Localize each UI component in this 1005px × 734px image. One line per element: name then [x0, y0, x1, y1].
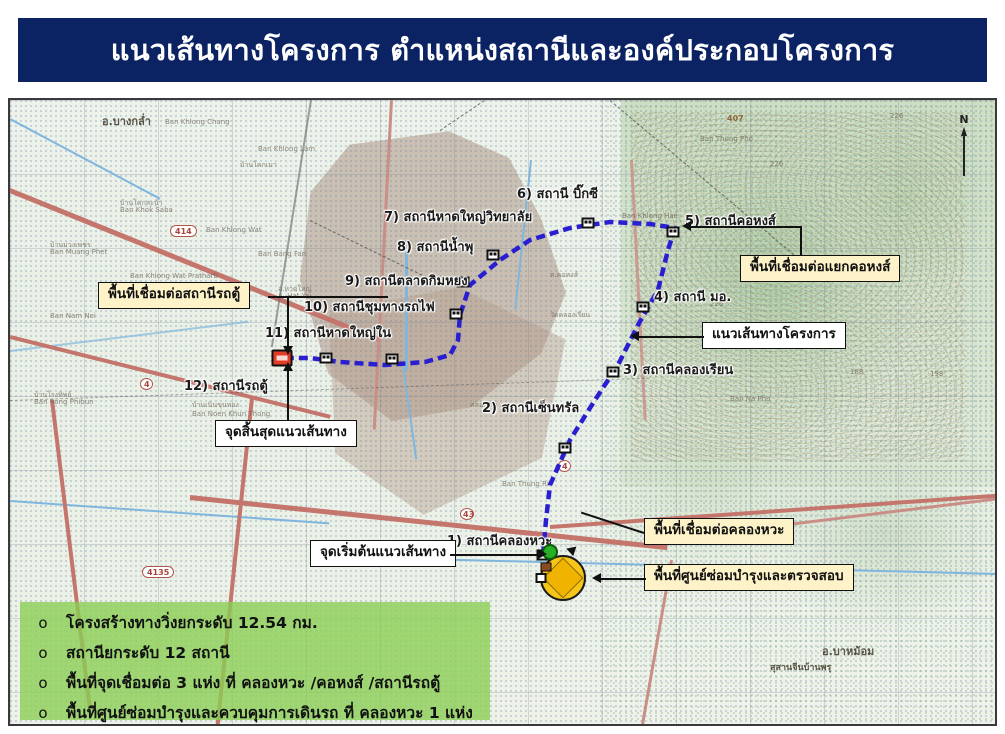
- station-marker-11[interactable]: [320, 353, 333, 364]
- legend-item: o พื้นที่จุดเชื่อมต่อ 3 แห่ง ที่ คลองหวะ…: [20, 672, 490, 698]
- legend-item-label: โครงสร้างทางวิ่งยกระดับ 12.54 กม.: [66, 612, 318, 634]
- station-marker-3[interactable]: [607, 367, 620, 378]
- station-marker-10[interactable]: [386, 354, 399, 365]
- legend-bullet-icon: o: [20, 702, 66, 724]
- callout-arrow: [283, 362, 293, 371]
- place-label: Ban Thung Pho: [700, 135, 753, 143]
- callout-route-end: จุดสิ้นสุดแนวเส้นทาง: [215, 420, 357, 447]
- highway-shield: 4: [558, 460, 571, 472]
- place-label: ต.คอหงส์: [550, 270, 578, 281]
- legend-item-label: พื้นที่ศูนย์ซ่อมบำรุงและควบคุมการเดินรถ …: [66, 702, 473, 724]
- callout-leader: [690, 226, 802, 228]
- legend-bullet-icon: o: [20, 642, 66, 664]
- place-label: Ban Noen Khun Thong: [192, 410, 270, 418]
- place-label: Ban Khlong Wat Pratharb: [130, 272, 218, 280]
- highway-shield: 414: [170, 225, 197, 237]
- place-label: 226: [770, 160, 783, 168]
- station-label-6: 6) สถานี บิ๊กซี: [517, 183, 598, 204]
- place-label: Ban Khok Saba: [120, 206, 173, 214]
- station-marker-2[interactable]: [559, 443, 572, 454]
- legend-item-label: พื้นที่จุดเชื่อมต่อ 3 แห่ง ที่ คลองหวะ /…: [66, 672, 440, 694]
- place-label: Ban Khlong Wat: [206, 226, 262, 234]
- highway-shield: 4135: [142, 566, 174, 578]
- place-label: Ban Khlong Chang: [165, 118, 230, 126]
- legend-item: o พื้นที่ศูนย์ซ่อมบำรุงและควบคุมการเดินร…: [20, 702, 490, 724]
- station-marker-9[interactable]: [450, 309, 463, 320]
- place-label: Ban Na Pho: [730, 395, 770, 403]
- callout-leader: [638, 336, 704, 338]
- callout-van-station-interchange: พื้นที่เชื่อมต่อสถานีรถตู้: [98, 282, 250, 309]
- highway-shield: 407: [722, 112, 749, 124]
- station-label-2: 2) สถานีเซ็นทรัล: [482, 397, 579, 418]
- legend-item: o โครงสร้างทางวิ่งยกระดับ 12.54 กม.: [20, 612, 490, 638]
- station-label-12: 12) สถานีรถตู้: [184, 375, 268, 396]
- callout-khlong-wa-interchange: พื้นที่เชื่อมต่อคลองหวะ: [644, 518, 794, 545]
- callout-arrow: [630, 331, 639, 341]
- legend-bullet-icon: o: [20, 612, 66, 634]
- station-label-8: 8) สถานีน้ำพุ: [397, 236, 473, 257]
- place-label: Ban Khlong Hae: [622, 212, 678, 220]
- legend-bullet-icon: o: [20, 672, 66, 694]
- north-arrow: N: [955, 114, 973, 176]
- place-label: อ.บาหม้อม: [822, 642, 874, 660]
- place-label: Ban Muang Phet: [50, 248, 107, 256]
- page-title: แนวเส้นทางโครงการ ตำแหน่งสถานีและองค์ประ…: [111, 36, 894, 65]
- map-canvas: 414 4135 407 43 4 4 อ.บางกล่ำ อ.บาหม้อม …: [10, 100, 995, 724]
- map-frame[interactable]: 414 4135 407 43 4 4 อ.บางกล่ำ อ.บาหม้อม …: [8, 98, 997, 726]
- callout-leader: [600, 578, 646, 580]
- place-label: Ban Rong Phibun: [34, 398, 94, 406]
- place-label: 198: [930, 370, 943, 378]
- callout-route-start: จุดเริ่มต้นแนวเส้นทาง: [310, 540, 456, 567]
- place-label: อ.หาดใหญ่: [278, 284, 312, 295]
- place-label: Ban Bang Fan: [258, 250, 306, 258]
- station-label-11: 11) สถานีหาดใหญ่ใน: [265, 322, 391, 343]
- legend-panel: o โครงสร้างทางวิ่งยกระดับ 12.54 กม. o สถ…: [20, 602, 490, 720]
- callout-leader: [287, 296, 289, 348]
- callout-arrow: [538, 549, 547, 559]
- callout-arrow: [682, 221, 691, 231]
- station-label-10: 10) สถานีชุมทางรถไฟ: [304, 296, 435, 317]
- callout-arrow: [592, 573, 601, 583]
- station-marker-6[interactable]: [582, 218, 595, 229]
- legend-item: o สถานียกระดับ 12 สถานี: [20, 642, 490, 668]
- station-marker-5[interactable]: [667, 227, 680, 238]
- place-label: วัดคลองเรียน: [550, 310, 590, 321]
- title-bar: แนวเส้นทางโครงการ ตำแหน่งสถานีและองค์ประ…: [18, 18, 987, 82]
- place-label: บ้านโคกเมา: [240, 160, 277, 171]
- station-marker-7[interactable]: [487, 250, 500, 261]
- callout-leader: [800, 226, 802, 256]
- station-marker-4[interactable]: [637, 302, 650, 313]
- place-label: 188: [850, 368, 863, 376]
- highway-shield: 43: [460, 508, 474, 520]
- station-label-1: 1) สถานีคลองหวะ: [447, 530, 552, 551]
- north-arrow-label: N: [955, 114, 973, 125]
- callout-depot-inspection: พื้นที่ศูนย์ซ่อมบำรุงและตรวจสอบ: [644, 564, 854, 591]
- place-label: Ban Khlong Lam: [258, 145, 315, 153]
- north-arrow-head: [961, 127, 967, 136]
- station-marker-1b[interactable]: [536, 573, 547, 583]
- callout-arrow: [283, 346, 293, 355]
- highway-shield: 4: [140, 378, 153, 390]
- interchange-node[interactable]: [541, 563, 552, 572]
- callout-leader: [287, 368, 289, 420]
- place-label: สุสานจีนบ้านพรุ: [770, 660, 831, 674]
- station-label-5: 5) สถานีคอหงส์: [685, 210, 776, 231]
- place-label: 226: [890, 112, 903, 120]
- legend-item-label: สถานียกระดับ 12 สถานี: [66, 642, 230, 664]
- place-label: อ.บางกล่ำ: [102, 112, 151, 130]
- station-label-9: 9) สถานีตลาดกิมหยง: [345, 270, 468, 291]
- callout-khohong-junction: พื้นที่เชื่อมต่อแยกคอหงส์: [740, 255, 900, 282]
- station-label-3: 3) สถานีคลองเรียน: [623, 359, 733, 380]
- slide-root: แนวเส้นทางโครงการ ตำแหน่งสถานีและองค์ประ…: [0, 0, 1005, 734]
- callout-leader: [268, 296, 388, 298]
- north-arrow-stem: [963, 136, 965, 176]
- callout-leader: [450, 554, 542, 556]
- station-label-4: 4) สถานี มอ.: [654, 286, 731, 307]
- callout-project-alignment: แนวเส้นทางโครงการ: [702, 322, 846, 349]
- place-label: Ban Nam Noi: [50, 312, 96, 320]
- station-label-7: 7) สถานีหาดใหญ่วิทยาลัย: [384, 206, 532, 227]
- place-label: Ban Thung Ri: [502, 480, 549, 488]
